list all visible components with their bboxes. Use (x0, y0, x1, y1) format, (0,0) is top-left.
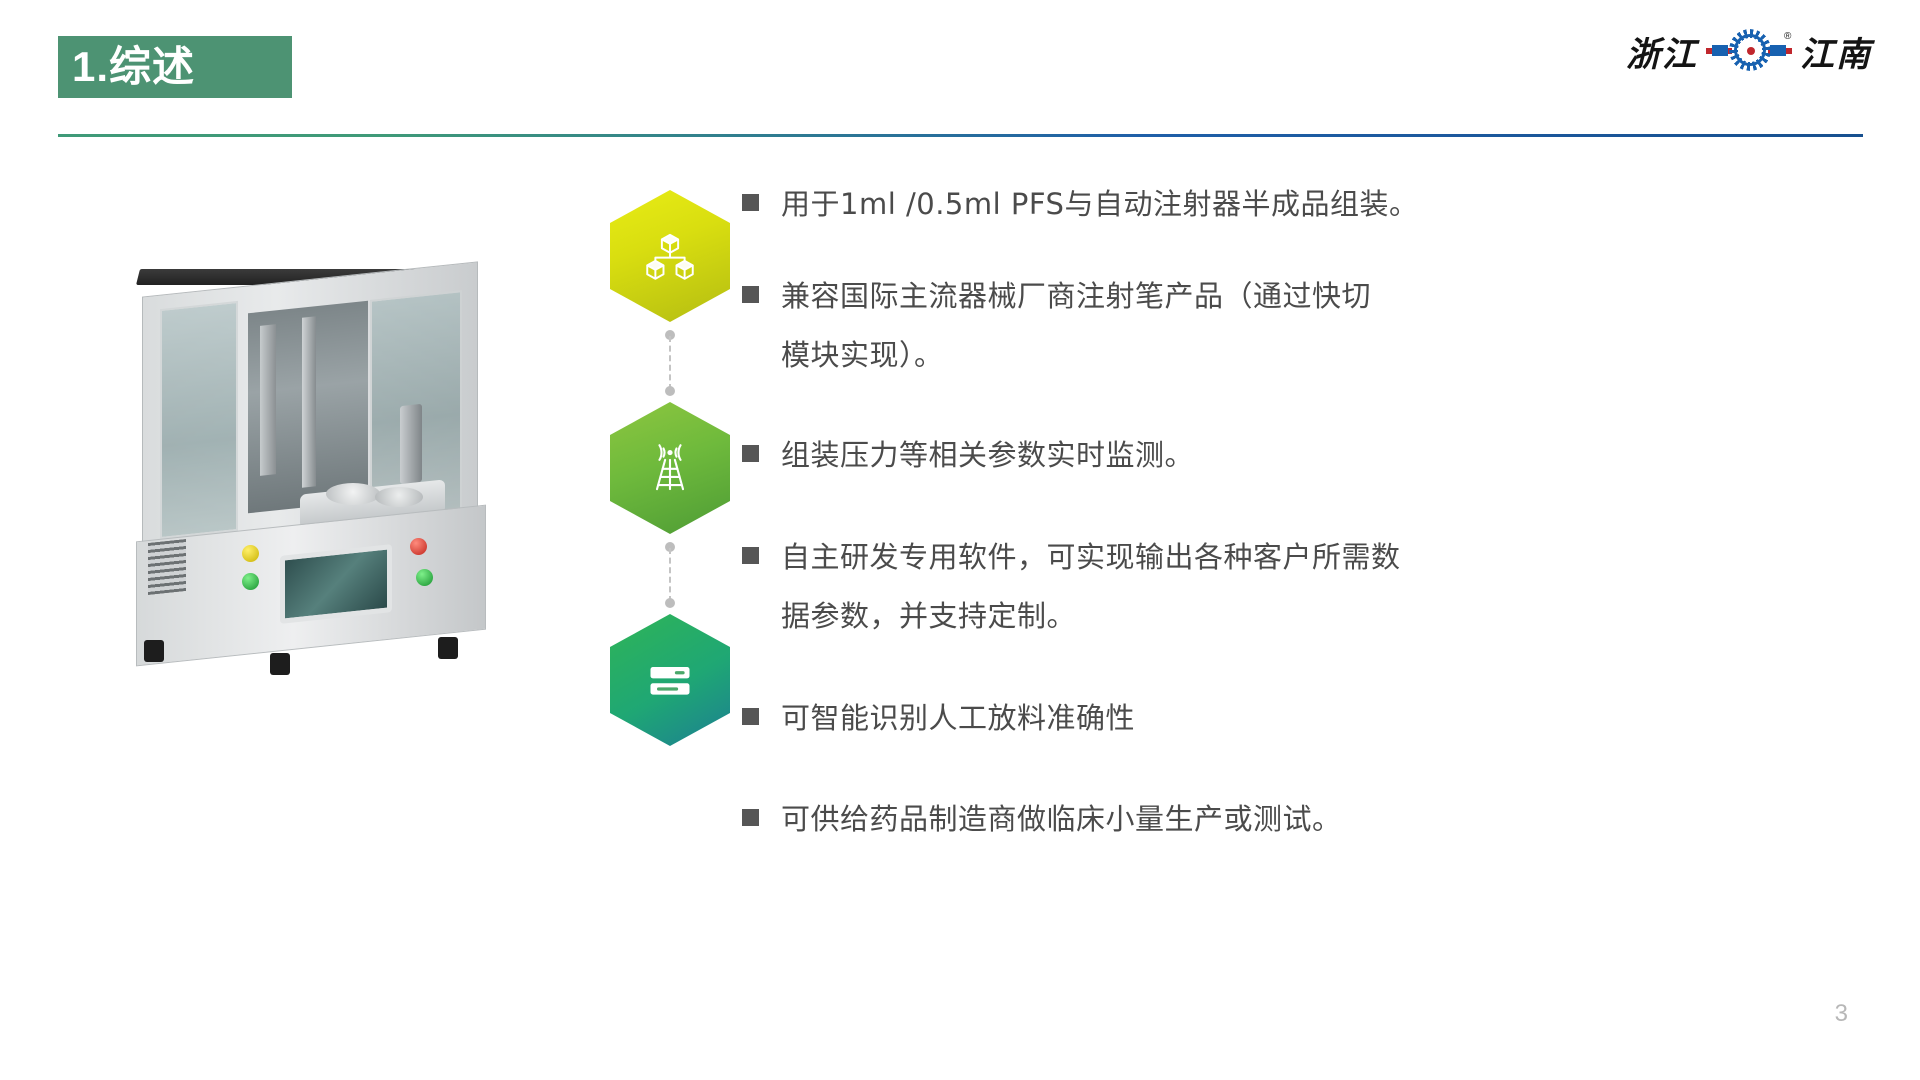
machine-button-yellow (242, 545, 259, 562)
slide-root: 1.综述 浙江 ® 江南 (0, 0, 1920, 1080)
logo-bar-left-blue (1712, 45, 1728, 56)
logo-bar-right-blue (1770, 45, 1786, 56)
connector-dot-bottom (665, 598, 675, 608)
section-title-box: 1.综述 (58, 36, 292, 98)
company-logo: 浙江 ® 江南 (1626, 20, 1872, 82)
bullet-marker (742, 286, 759, 303)
machine-rail-b (302, 316, 316, 487)
bullet-item-2-continuation: 模块实现）。 (742, 329, 1802, 383)
gear-logo-icon: ® (1706, 29, 1792, 73)
machine-vent-grille (148, 539, 186, 595)
logo-text-right: 江南 (1800, 27, 1872, 76)
bullet-text: 用于1ml /0.5ml PFS与自动注射器半成品组装。 (781, 178, 1418, 232)
machine-photo (120, 255, 520, 675)
machine-foot-left (144, 640, 164, 662)
bullet-text: 可智能识别人工放料准确性 (781, 692, 1135, 746)
server-rack-icon (644, 654, 696, 706)
bullet-marker (742, 194, 759, 211)
bullet-item-6: 可供给药品制造商做临床小量生产或测试。 (742, 793, 1802, 847)
machine-foot-center (270, 653, 290, 675)
connector-dashed-line (669, 548, 671, 602)
timeline-node-2 (610, 402, 730, 534)
bullet-marker (742, 809, 759, 826)
bullet-text: 兼容国际主流器械厂商注射笔产品（通过快切 (781, 270, 1371, 324)
bullet-text: 模块实现）。 (781, 329, 944, 383)
timeline-connector-2 (669, 542, 671, 608)
bullet-marker (742, 708, 759, 725)
timeline-connector-1 (669, 330, 671, 396)
machine-button-green-2 (416, 569, 433, 586)
antenna-tower-icon (644, 442, 696, 494)
connector-dashed-line (669, 336, 671, 390)
timeline-node-1 (610, 190, 730, 322)
bullet-list: 用于1ml /0.5ml PFS与自动注射器半成品组装。 兼容国际主流器械厂商注… (742, 178, 1802, 851)
header-divider (58, 134, 1863, 137)
bullet-marker (742, 445, 759, 462)
bullet-text: 自主研发专用软件，可实现输出各种客户所需数 (781, 531, 1401, 585)
page-number: 3 (1835, 1000, 1848, 1028)
bullet-text: 可供给药品制造商做临床小量生产或测试。 (781, 793, 1342, 847)
bullet-item-3: 组装压力等相关参数实时监测。 (742, 429, 1802, 483)
machine-rail-a (260, 324, 276, 476)
machine-glass-left (160, 301, 238, 539)
logo-text-left: 浙江 (1626, 27, 1698, 76)
machine-button-red (410, 538, 427, 555)
bullet-item-1: 用于1ml /0.5ml PFS与自动注射器半成品组装。 (742, 178, 1802, 232)
page-title: 1.综述 (58, 46, 195, 88)
registered-mark: ® (1784, 31, 1791, 42)
machine-turntable-b (375, 487, 423, 507)
bullet-item-4: 自主研发专用软件，可实现输出各种客户所需数 (742, 531, 1802, 585)
machine-button-green (242, 573, 259, 590)
blocks-network-icon (644, 230, 696, 282)
bullet-text: 组装压力等相关参数实时监测。 (781, 429, 1194, 483)
connector-dot-bottom (665, 386, 675, 396)
machine-cylinder (400, 404, 422, 484)
machine-turntable-a (326, 483, 380, 505)
bullet-item-2: 兼容国际主流器械厂商注射笔产品（通过快切 (742, 270, 1802, 324)
timeline-node-3 (610, 614, 730, 746)
machine-hmi-screen (280, 544, 392, 624)
bullet-item-4-continuation: 据参数，并支持定制。 (742, 590, 1802, 644)
bullet-item-5: 可智能识别人工放料准确性 (742, 692, 1802, 746)
bullet-text: 据参数，并支持定制。 (781, 590, 1076, 644)
machine-foot-right (438, 637, 458, 659)
logo-center-dot (1747, 47, 1755, 55)
bullet-marker (742, 547, 759, 564)
hexagon-timeline (610, 190, 730, 720)
